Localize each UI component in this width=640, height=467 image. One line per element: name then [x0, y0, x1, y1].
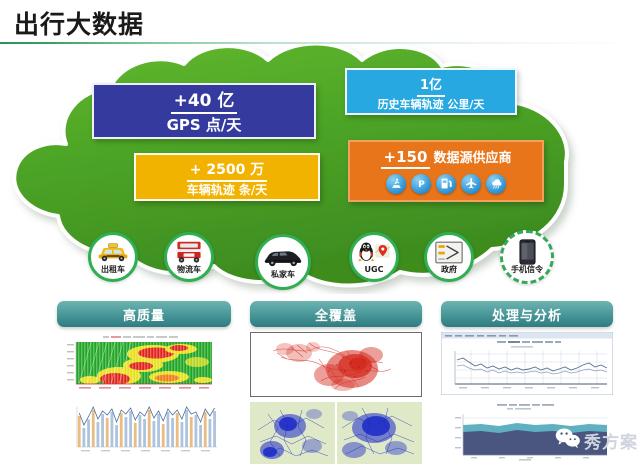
panel-title: 高质量: [57, 301, 231, 327]
truck-icon: [174, 240, 204, 264]
sidebar-item-truck[interactable]: 物流车: [164, 232, 214, 282]
sidebar-item-government[interactable]: 政府: [424, 232, 474, 282]
stat-box-history: 1亿 历史车辆轨迹 公里/天: [345, 68, 517, 115]
airplane-icon: [461, 174, 481, 194]
mobile-phone-icon: [519, 240, 536, 264]
slide-root: 出行大数据 +40 亿 GPS 点: [0, 0, 640, 467]
sidebar-item-taxi[interactable]: 出租车: [88, 232, 138, 282]
watermark-text: 秀方案: [584, 428, 638, 453]
chart-bar-thumbnail: [57, 401, 231, 459]
weather-rain-icon: [486, 174, 506, 194]
sidebar-item-mobile-signaling[interactable]: 手机信令: [500, 230, 554, 284]
stat-value-gps: +40 亿: [171, 92, 238, 114]
stat-value-history: 1亿: [417, 79, 445, 97]
watermark: 秀方案: [555, 427, 638, 453]
stat-label-trajectory: 车辆轨迹 条/天: [136, 183, 318, 197]
stat-label-sources: 数据源供应商: [433, 151, 511, 166]
panel-title: 处理与分析: [441, 301, 613, 327]
stat-value-sources: +150: [381, 149, 431, 169]
road-work-icon: [386, 174, 406, 194]
stat-value-trajectory: + 2500 万: [187, 163, 267, 182]
chart-heatmap-thumbnail: [57, 332, 231, 395]
car-icon: [263, 245, 303, 269]
parking-icon: P: [411, 174, 431, 194]
chart-red-density-map-thumbnail: [250, 332, 422, 397]
government-sign-icon: [435, 240, 463, 264]
source-label: 物流车: [177, 266, 201, 274]
sidebar-item-private-car[interactable]: 私家车: [255, 234, 311, 290]
panel-full-coverage: 全覆盖: [250, 301, 422, 464]
stat-sources-line: +150数据源供应商: [350, 147, 542, 169]
panel-high-quality: 高质量: [57, 301, 231, 459]
fuel-station-icon: [436, 174, 456, 194]
source-label: 私家车: [271, 271, 295, 279]
stat-label-history: 历史车辆轨迹 公里/天: [347, 98, 515, 111]
source-label: 手机信令: [511, 266, 543, 274]
source-label: 政府: [441, 266, 457, 274]
stat-box-gps: +40 亿 GPS 点/天: [92, 83, 316, 139]
page-title: 出行大数据: [14, 5, 144, 41]
source-label: UGC: [365, 266, 384, 274]
chart-line-thumbnail: [441, 332, 613, 395]
chart-blue-coverage-maps-thumbnail: [250, 402, 422, 464]
panel-content: [57, 332, 231, 459]
ugc-penguin-map-icon: [357, 240, 391, 264]
stat-label-gps: GPS 点/天: [94, 116, 314, 134]
taxi-icon: [96, 240, 130, 264]
stat-box-trajectory: + 2500 万 车辆轨迹 条/天: [134, 153, 320, 201]
wechat-icon: [555, 427, 581, 453]
stat-box-sources: +150数据源供应商 P: [348, 140, 544, 202]
sidebar-item-ugc[interactable]: UGC: [349, 232, 399, 282]
source-label: 出租车: [101, 266, 125, 274]
source-type-icon-row: P: [350, 174, 542, 194]
svg-text:P: P: [418, 179, 425, 190]
panel-content: [250, 332, 422, 464]
panel-title: 全覆盖: [250, 301, 422, 327]
